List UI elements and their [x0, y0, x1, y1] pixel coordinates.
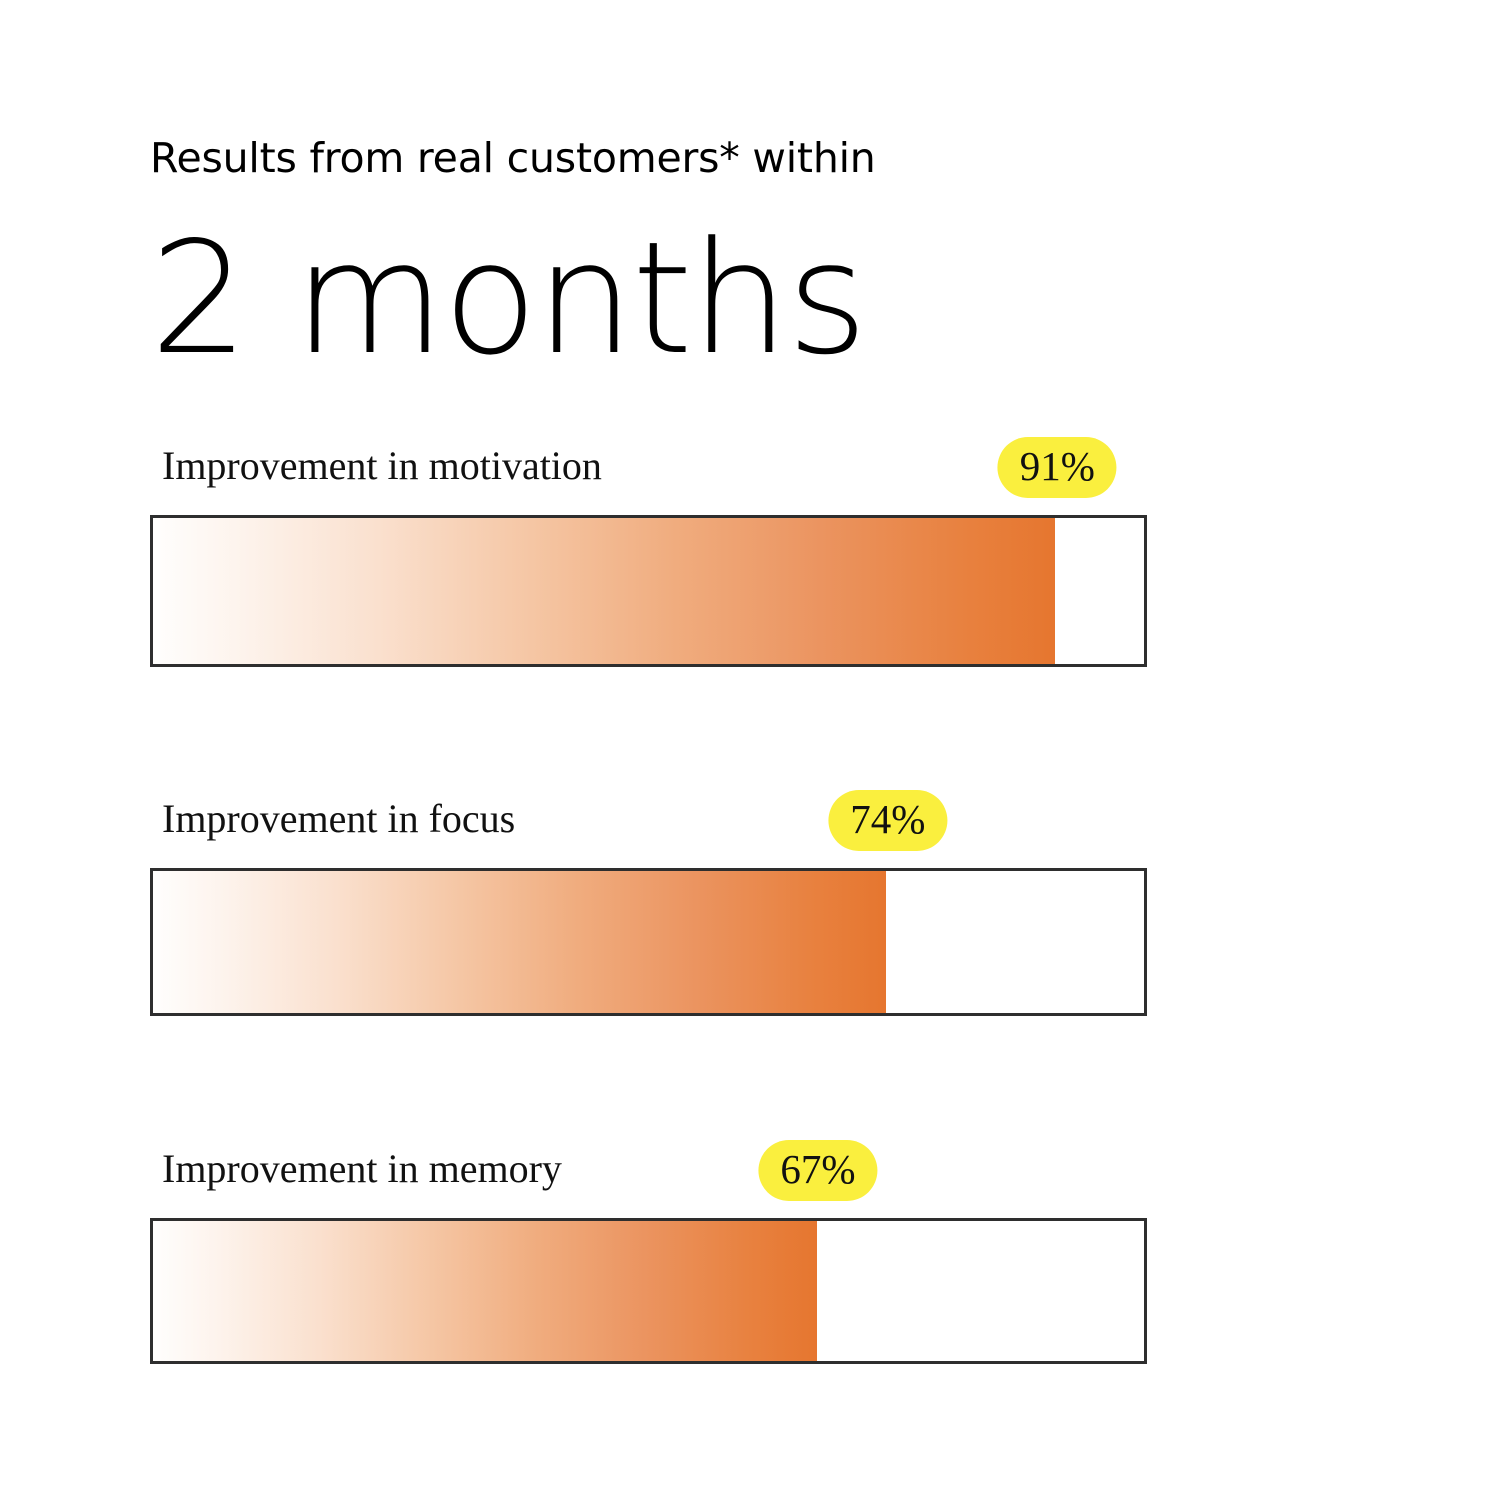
bar-track — [150, 1218, 1147, 1364]
bar-fill — [153, 1221, 817, 1361]
bar-track — [150, 868, 1147, 1016]
bar-fill — [153, 871, 886, 1013]
metric-value-badge: 67% — [758, 1140, 877, 1201]
infographic-canvas: Results from real customers* within 2 mo… — [0, 0, 1500, 1500]
metrics-list: Improvement in motivation91%Improvement … — [0, 0, 1500, 1500]
metric-label: Improvement in memory — [162, 1143, 562, 1195]
metric-header: Improvement in memory67% — [150, 1143, 1147, 1203]
metric-value-badge: 91% — [998, 437, 1117, 498]
metric-header: Improvement in focus74% — [150, 793, 1147, 853]
metric-value-badge: 74% — [828, 790, 947, 851]
metric-header: Improvement in motivation91% — [150, 440, 1147, 500]
bar-fill — [153, 518, 1055, 664]
bar-track — [150, 515, 1147, 667]
metric-row: Improvement in focus74% — [150, 793, 1147, 1016]
metric-row: Improvement in motivation91% — [150, 440, 1147, 667]
metric-row: Improvement in memory67% — [150, 1143, 1147, 1364]
metric-label: Improvement in focus — [162, 793, 515, 845]
metric-label: Improvement in motivation — [162, 440, 602, 492]
